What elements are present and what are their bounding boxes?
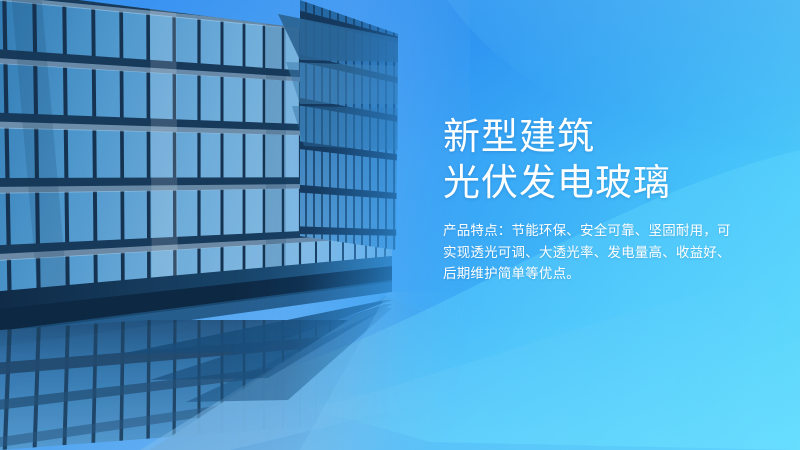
product-banner: 新型建筑 光伏发电玻璃 产品特点：节能环保、安全可靠、坚固耐用，可实现透光可调、… bbox=[0, 0, 800, 450]
copy-block: 新型建筑 光伏发电玻璃 产品特点：节能环保、安全可靠、坚固耐用，可实现透光可调、… bbox=[443, 114, 763, 285]
building-photo bbox=[0, 0, 470, 450]
headline-line-1: 新型建筑 bbox=[443, 114, 763, 160]
product-description: 产品特点：节能环保、安全可靠、坚固耐用，可实现透光可调、大透光率、发电量高、收益… bbox=[443, 220, 738, 285]
headline-line-2: 光伏发电玻璃 bbox=[443, 160, 763, 206]
